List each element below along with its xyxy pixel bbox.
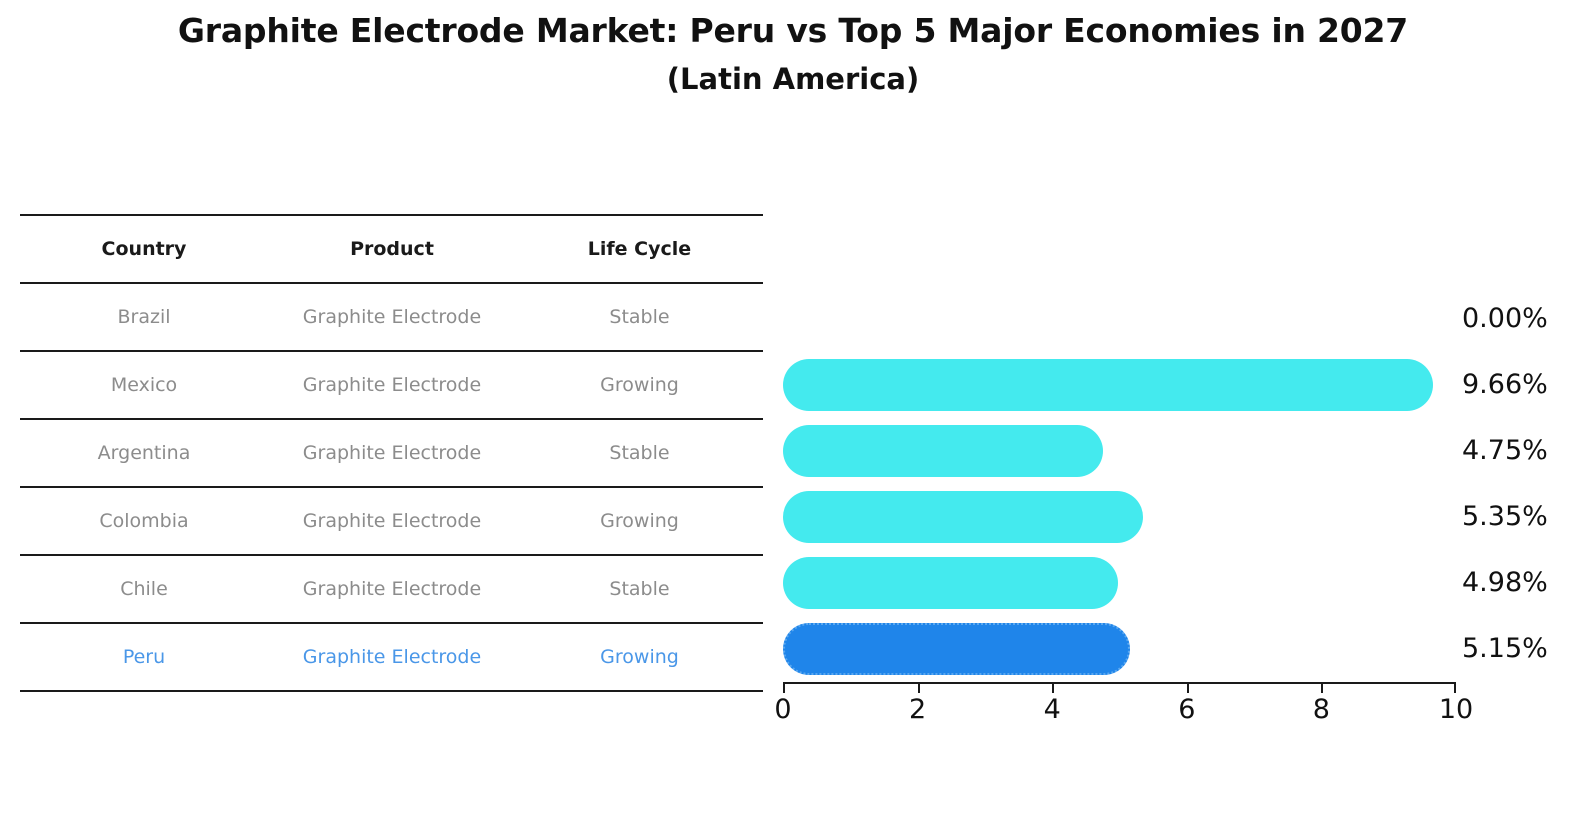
bar-row: 5.15%: [783, 616, 1456, 682]
cell-country: Colombia: [20, 487, 268, 555]
cell-product: Graphite Electrode: [268, 419, 516, 487]
bar-value-label: 4.75%: [1462, 418, 1548, 484]
column-header-lifecycle: Life Cycle: [516, 215, 763, 283]
cell-product: Graphite Electrode: [268, 487, 516, 555]
x-axis-tick: [1052, 684, 1054, 693]
bar-row: 9.66%: [783, 352, 1456, 418]
bar-chart-plot-area: 0.00%9.66%4.75%5.35%4.98%5.15%: [783, 286, 1456, 682]
table-body: BrazilGraphite ElectrodeStableMexicoGrap…: [20, 283, 763, 691]
bar-row: 0.00%: [783, 286, 1456, 352]
bar-row: 4.75%: [783, 418, 1456, 484]
table-row: MexicoGraphite ElectrodeGrowing: [20, 351, 763, 419]
bar-colombia: [783, 491, 1143, 543]
bar-argentina: [783, 425, 1103, 477]
column-header-country: Country: [20, 215, 268, 283]
cell-product: Graphite Electrode: [268, 555, 516, 623]
x-axis: 0246810: [783, 682, 1456, 742]
cell-lifecycle: Stable: [516, 419, 763, 487]
cell-lifecycle: Growing: [516, 351, 763, 419]
page-title: Graphite Electrode Market: Peru vs Top 5…: [0, 10, 1586, 51]
table-header-row: Country Product Life Cycle: [20, 215, 763, 283]
cell-product: Graphite Electrode: [268, 351, 516, 419]
table-row: ChileGraphite ElectrodeStable: [20, 555, 763, 623]
cell-country: Brazil: [20, 283, 268, 351]
x-axis-tick-label: 4: [1044, 694, 1061, 725]
bar-chile: [783, 557, 1118, 609]
bar-value-label: 4.98%: [1462, 550, 1548, 616]
table-row: ArgentinaGraphite ElectrodeStable: [20, 419, 763, 487]
x-axis-tick: [783, 684, 785, 693]
cell-lifecycle: Growing: [516, 623, 763, 691]
x-axis-tick-label: 2: [909, 694, 926, 725]
bar-mexico: [783, 359, 1433, 411]
cell-country: Chile: [20, 555, 268, 623]
cell-lifecycle: Stable: [516, 555, 763, 623]
bar-peru: [783, 623, 1130, 675]
table-row: ColombiaGraphite ElectrodeGrowing: [20, 487, 763, 555]
bar-row: 4.98%: [783, 550, 1456, 616]
x-axis-tick-label: 10: [1439, 694, 1473, 725]
cell-product: Graphite Electrode: [268, 283, 516, 351]
bar-value-label: 9.66%: [1462, 352, 1548, 418]
bar-row: 5.35%: [783, 484, 1456, 550]
cell-country: Mexico: [20, 351, 268, 419]
cell-country: Peru: [20, 623, 268, 691]
cell-product: Graphite Electrode: [268, 623, 516, 691]
x-axis-tick-label: 0: [774, 694, 791, 725]
country-data-table: Country Product Life Cycle BrazilGraphit…: [20, 214, 763, 692]
column-header-product: Product: [268, 215, 516, 283]
x-axis-tick: [918, 684, 920, 693]
x-axis-tick-label: 6: [1178, 694, 1195, 725]
cell-country: Argentina: [20, 419, 268, 487]
x-axis-tick-label: 8: [1313, 694, 1330, 725]
cell-lifecycle: Growing: [516, 487, 763, 555]
table-row: BrazilGraphite ElectrodeStable: [20, 283, 763, 351]
x-axis-tick: [1321, 684, 1323, 693]
bar-value-label: 5.35%: [1462, 484, 1548, 550]
x-axis-tick: [1187, 684, 1189, 693]
page-subtitle: (Latin America): [0, 51, 1586, 97]
x-axis-line: [783, 682, 1456, 684]
table-row: PeruGraphite ElectrodeGrowing: [20, 623, 763, 691]
chart-figure: Graphite Electrode Market: Peru vs Top 5…: [0, 0, 1586, 823]
title-block: Graphite Electrode Market: Peru vs Top 5…: [0, 10, 1586, 98]
table-header: Country Product Life Cycle: [20, 215, 763, 283]
cell-lifecycle: Stable: [516, 283, 763, 351]
bar-value-label: 5.15%: [1462, 616, 1548, 682]
bar-value-label: 0.00%: [1462, 286, 1548, 352]
x-axis-tick: [1454, 684, 1456, 693]
